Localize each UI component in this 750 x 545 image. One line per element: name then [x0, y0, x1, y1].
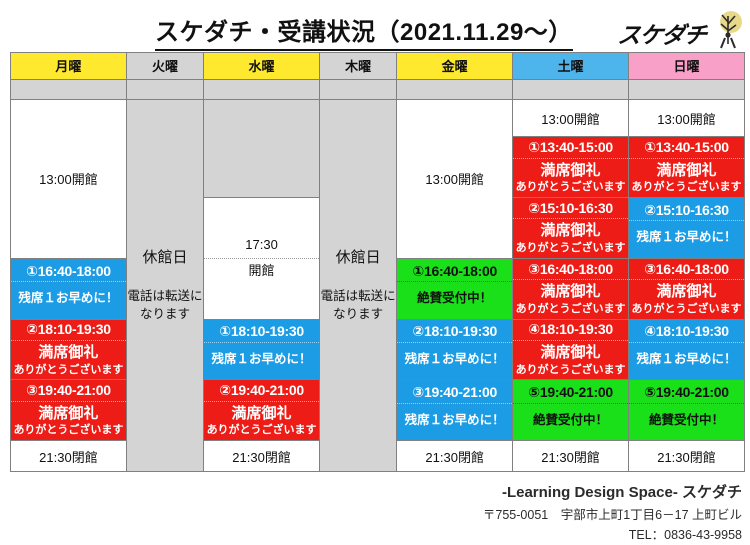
saturday-slot-5[interactable]: ⑤19:40-21:00 絶賛受付中！: [513, 380, 629, 441]
footer: -Learning Design Space- スケダチ 〒755-0051 宇…: [322, 482, 742, 545]
spacer-tuesday: [126, 79, 203, 99]
sunday-slot-5[interactable]: ⑤19:40-21:00 絶賛受付中！: [629, 380, 745, 441]
friday-slot-1-status: 絶賛受付中！: [397, 291, 512, 307]
footer-tel: TEL：0836-43-9958: [322, 525, 742, 545]
wednesday-close-time: 21:30閉館: [204, 441, 320, 472]
sunday-slot-4-time: ④18:10-19:30: [629, 323, 744, 343]
monday-slot-3-time: ③19:40-21:00: [11, 382, 126, 402]
footer-address: 〒755-0051 宇部市上町1丁目6－17 上町ビル: [322, 505, 742, 525]
monday-open-time: 13:00開館: [11, 99, 127, 258]
wednesday-open-time-value: 17:30: [204, 233, 319, 259]
column-header-tuesday: 火曜: [126, 53, 203, 80]
column-header-friday: 金曜: [397, 53, 513, 80]
footer-brand: -Learning Design Space- スケダチ: [322, 482, 742, 505]
monday-slot-2-time: ②18:10-19:30: [11, 321, 126, 341]
title-bar: スケダチ・受講状況（2021.11.29～） スケダチ: [0, 4, 750, 46]
saturday-slot-2-time: ②15:10-16:30: [513, 200, 628, 220]
wednesday-open-label: 開館: [204, 259, 319, 284]
monday-slot-2[interactable]: ②18:10-19:30 満席御礼 ありがとうございます: [11, 319, 127, 380]
thursday-closed-note-1: 電話は転送に: [320, 287, 396, 305]
monday-close-time: 21:30閉館: [11, 441, 127, 472]
wednesday-slot-1[interactable]: ①18:10-19:30 残席１お早めに！: [204, 319, 320, 380]
sunday-slot-4[interactable]: ④18:10-19:30 残席１お早めに！: [629, 319, 745, 380]
saturday-slot-5-status: 絶賛受付中！: [513, 413, 628, 429]
schedule-row-1: 13:00開館 休館日 電話は転送に なります 休館日 電話は転送に なります …: [11, 99, 745, 136]
logo-wordmark: スケダチ: [616, 16, 708, 50]
saturday-open-time: 13:00開館: [513, 99, 629, 136]
saturday-slot-4-note: ありがとうございます: [513, 364, 628, 378]
sunday-slot-3-status: 満席御礼: [629, 283, 744, 302]
saturday-slot-2-status: 満席御礼: [513, 222, 628, 241]
friday-close-time: 21:30閉館: [397, 441, 513, 472]
sunday-slot-2-time: ②15:10-16:30: [629, 202, 744, 222]
sunday-slot-3[interactable]: ③16:40-18:00 満席御礼 ありがとうございます: [629, 258, 745, 319]
wednesday-slot-2-note: ありがとうございます: [204, 424, 319, 438]
monday-slot-1-time: ①16:40-18:00: [11, 263, 126, 283]
brand-logo: スケダチ: [618, 10, 744, 52]
saturday-slot-4-status: 満席御礼: [513, 344, 628, 363]
spacer-friday: [397, 79, 513, 99]
sunday-slot-5-time: ⑤19:40-21:00: [629, 384, 744, 404]
wednesday-slot-2-time: ②19:40-21:00: [204, 382, 319, 402]
column-header-thursday: 木曜: [320, 53, 397, 80]
saturday-slot-5-time: ⑤19:40-21:00: [513, 384, 628, 404]
spacer-monday: [11, 79, 127, 99]
column-header-saturday: 土曜: [513, 53, 629, 80]
column-header-wednesday: 水曜: [204, 53, 320, 80]
spacer-sunday: [629, 79, 745, 99]
wednesday-slot-1-status: 残席１お早めに！: [204, 352, 319, 368]
friday-slot-3[interactable]: ③19:40-21:00 残席１お早めに！: [397, 380, 513, 441]
saturday-slot-3-time: ③16:40-18:00: [513, 261, 628, 281]
saturday-slot-2[interactable]: ②15:10-16:30 満席御礼 ありがとうございます: [513, 197, 629, 258]
thursday-closed-note-2: なります: [320, 305, 396, 323]
friday-slot-1-time: ①16:40-18:00: [397, 263, 512, 283]
monday-slot-3-status: 満席御礼: [11, 405, 126, 424]
tree-person-logo-icon: [714, 10, 744, 50]
wednesday-slot-1-time: ①18:10-19:30: [204, 323, 319, 343]
monday-slot-1[interactable]: ①16:40-18:00 残席１お早めに！: [11, 258, 127, 319]
saturday-slot-1[interactable]: ①13:40-15:00 満席御礼 ありがとうございます: [513, 137, 629, 198]
column-header-monday: 月曜: [11, 53, 127, 80]
friday-slot-1[interactable]: ①16:40-18:00 絶賛受付中！: [397, 258, 513, 319]
friday-slot-3-status: 残席１お早めに！: [397, 413, 512, 429]
saturday-slot-1-time: ①13:40-15:00: [513, 139, 628, 159]
header-spacer-row: [11, 79, 745, 99]
friday-slot-3-time: ③19:40-21:00: [397, 384, 512, 404]
spacer-thursday: [320, 79, 397, 99]
sunday-slot-5-status: 絶賛受付中！: [629, 413, 744, 429]
schedule-table: 月曜 火曜 水曜 木曜 金曜 土曜 日曜 13:00開館 休館日 電話は転送に …: [10, 52, 745, 472]
sunday-close-time: 21:30閉館: [629, 441, 745, 472]
sunday-slot-2[interactable]: ②15:10-16:30 残席１お早めに！: [629, 197, 745, 258]
sunday-slot-3-time: ③16:40-18:00: [629, 261, 744, 281]
thursday-closed-day: 休館日 電話は転送に なります: [320, 99, 397, 471]
friday-slot-2-time: ②18:10-19:30: [397, 323, 512, 343]
monday-slot-1-status: 残席１お早めに！: [11, 291, 126, 307]
wednesday-open-time: 17:30 開館: [204, 197, 320, 319]
saturday-slot-2-note: ありがとうございます: [513, 242, 628, 256]
tuesday-closed-label: 休館日: [127, 247, 203, 269]
column-header-sunday: 日曜: [629, 53, 745, 80]
table-header-row: 月曜 火曜 水曜 木曜 金曜 土曜 日曜: [11, 53, 745, 80]
sunday-slot-2-status: 残席１お早めに！: [629, 230, 744, 246]
sunday-slot-1[interactable]: ①13:40-15:00 満席御礼 ありがとうございます: [629, 137, 745, 198]
wednesday-slot-2-status: 満席御礼: [204, 405, 319, 424]
sunday-slot-3-note: ありがとうございます: [629, 303, 744, 317]
saturday-slot-4[interactable]: ④18:10-19:30 満席御礼 ありがとうございます: [513, 319, 629, 380]
saturday-slot-3-status: 満席御礼: [513, 283, 628, 302]
saturday-slot-3[interactable]: ③16:40-18:00 満席御礼 ありがとうございます: [513, 258, 629, 319]
saturday-slot-3-note: ありがとうございます: [513, 303, 628, 317]
thursday-closed-label: 休館日: [320, 247, 396, 269]
friday-open-time: 13:00開館: [397, 99, 513, 258]
friday-slot-2[interactable]: ②18:10-19:30 残席１お早めに！: [397, 319, 513, 380]
spacer-saturday: [513, 79, 629, 99]
monday-slot-2-status: 満席御礼: [11, 344, 126, 363]
wednesday-closed-block: [204, 99, 320, 197]
sunday-open-time: 13:00開館: [629, 99, 745, 136]
saturday-slot-1-note: ありがとうございます: [513, 181, 628, 195]
page-title: スケダチ・受講状況（2021.11.29～）: [155, 12, 573, 51]
sunday-slot-1-status: 満席御礼: [629, 162, 744, 181]
friday-slot-2-status: 残席１お早めに！: [397, 352, 512, 368]
tuesday-closed-note-1: 電話は転送に: [127, 287, 203, 305]
spacer-wednesday: [204, 79, 320, 99]
monday-slot-2-note: ありがとうございます: [11, 364, 126, 378]
tuesday-closed-note-2: なります: [127, 305, 203, 323]
saturday-slot-4-time: ④18:10-19:30: [513, 321, 628, 341]
sunday-slot-1-time: ①13:40-15:00: [629, 139, 744, 159]
monday-slot-3[interactable]: ③19:40-21:00 満席御礼 ありがとうございます: [11, 380, 127, 441]
tuesday-closed-day: 休館日 電話は転送に なります: [126, 99, 203, 471]
sunday-slot-1-note: ありがとうございます: [629, 181, 744, 195]
sunday-slot-4-status: 残席１お早めに！: [629, 352, 744, 368]
saturday-close-time: 21:30閉館: [513, 441, 629, 472]
monday-slot-3-note: ありがとうございます: [11, 424, 126, 438]
saturday-slot-1-status: 満席御礼: [513, 162, 628, 181]
wednesday-slot-2[interactable]: ②19:40-21:00 満席御礼 ありがとうございます: [204, 380, 320, 441]
